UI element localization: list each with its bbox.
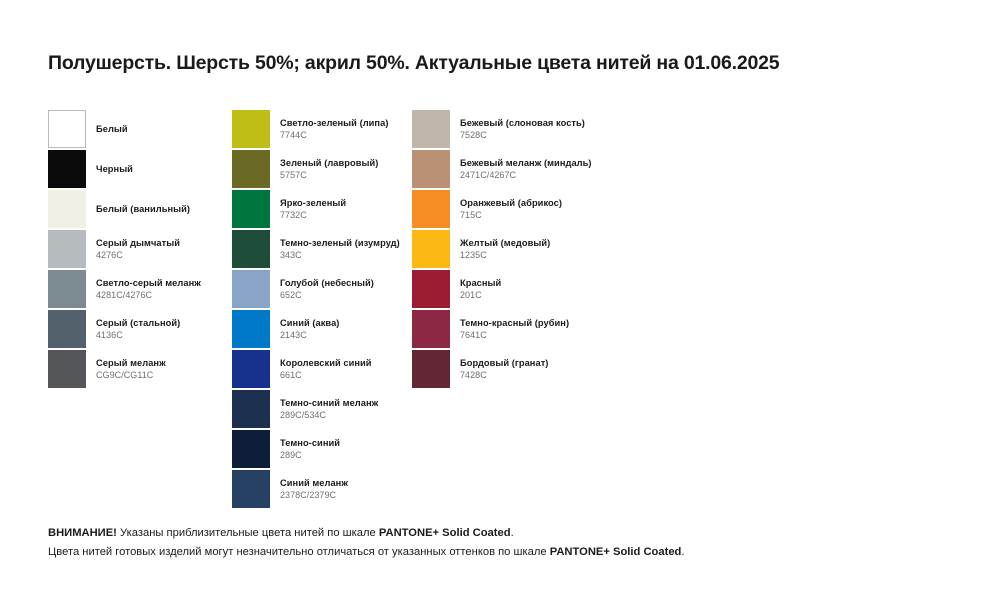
color-name: Бежевый меланж (миндаль) — [460, 157, 592, 169]
color-swatch — [232, 310, 270, 348]
color-pantone-code: 2378C/2379C — [280, 489, 348, 501]
color-labels: Желтый (медовый)1235C — [460, 230, 550, 268]
color-name: Темно-синий меланж — [280, 397, 378, 409]
color-swatch — [232, 390, 270, 428]
color-swatch — [48, 270, 86, 308]
color-swatch — [412, 270, 450, 308]
color-labels: Бежевый меланж (миндаль)2471C/4267C — [460, 150, 592, 188]
color-name: Серый дымчатый — [96, 237, 180, 249]
color-labels: Темно-синий меланж289C/534C — [280, 390, 378, 428]
color-labels: Королевский синий661C — [280, 350, 372, 388]
color-labels: Темно-зеленый (изумруд)343C — [280, 230, 400, 268]
color-pantone-code: 1235C — [460, 249, 550, 261]
color-labels: Белый — [96, 110, 128, 148]
color-pantone-code: 289C — [280, 449, 340, 461]
color-labels: Серый дымчатый4276C — [96, 230, 180, 268]
color-labels: Оранжевый (абрикос)715C — [460, 190, 562, 228]
color-name: Желтый (медовый) — [460, 237, 550, 249]
color-pantone-code: 5757C — [280, 169, 378, 181]
color-name: Синий (аква) — [280, 317, 339, 329]
footer-line-1-text: Указаны приблизительные цвета нитей по ш… — [117, 527, 379, 539]
color-swatch — [412, 350, 450, 388]
color-swatch — [48, 150, 86, 188]
color-pantone-code: 7641C — [460, 329, 569, 341]
color-labels: Голубой (небесный)652C — [280, 270, 374, 308]
color-labels: Белый (ванильный) — [96, 190, 190, 228]
color-labels: Синий (аква)2143C — [280, 310, 339, 348]
color-swatch — [232, 470, 270, 508]
footer-note: ВНИМАНИЕ! Указаны приблизительные цвета … — [48, 524, 948, 561]
footer-line-2-text: Цвета нитей готовых изделий могут незнач… — [48, 546, 550, 558]
color-name: Красный — [460, 277, 501, 289]
color-labels: Ярко-зеленый7732C — [280, 190, 346, 228]
color-name: Оранжевый (абрикос) — [460, 197, 562, 209]
color-swatch — [412, 190, 450, 228]
color-swatch — [48, 230, 86, 268]
color-labels: Бордовый (гранат)7428C — [460, 350, 548, 388]
color-pantone-code: 661C — [280, 369, 372, 381]
color-pantone-code: 201C — [460, 289, 501, 301]
page-title: Полушерсть. Шерсть 50%; акрил 50%. Актуа… — [48, 52, 779, 75]
color-swatch — [232, 190, 270, 228]
color-labels: Темно-синий289C — [280, 430, 340, 468]
color-labels: Красный201C — [460, 270, 501, 308]
color-labels: Бежевый (слоновая кость)7528C — [460, 110, 585, 148]
color-pantone-code: 2471C/4267C — [460, 169, 592, 181]
color-labels: Светло-зеленый (липа)7744C — [280, 110, 388, 148]
color-name: Серый (стальной) — [96, 317, 180, 329]
color-name: Темно-синий — [280, 437, 340, 449]
color-swatch — [48, 350, 86, 388]
footer-attention-label: ВНИМАНИЕ! — [48, 527, 117, 539]
color-name: Бордовый (гранат) — [460, 357, 548, 369]
color-swatch — [48, 310, 86, 348]
color-name: Зеленый (лавровый) — [280, 157, 378, 169]
footer-brand-1: PANTONE+ Solid Coated — [379, 527, 511, 539]
color-name: Темно-зеленый (изумруд) — [280, 237, 400, 249]
color-name: Светло-зеленый (липа) — [280, 117, 388, 129]
color-labels: Темно-красный (рубин)7641C — [460, 310, 569, 348]
color-pantone-code: 7528C — [460, 129, 585, 141]
footer-line-2: Цвета нитей готовых изделий могут незнач… — [48, 543, 948, 562]
color-pantone-code: 7744C — [280, 129, 388, 141]
color-name: Серый меланж — [96, 357, 166, 369]
footer-line-1-end: . — [511, 527, 514, 539]
color-pantone-code: 715C — [460, 209, 562, 221]
color-swatch — [48, 190, 86, 228]
color-name: Бежевый (слоновая кость) — [460, 117, 585, 129]
color-labels: Серый меланжCG9C/CG11C — [96, 350, 166, 388]
color-pantone-code: CG9C/CG11C — [96, 369, 166, 381]
color-swatch — [232, 350, 270, 388]
color-name: Белый (ванильный) — [96, 203, 190, 215]
color-labels: Светло-серый меланж4281C/4276C — [96, 270, 201, 308]
color-swatch — [412, 110, 450, 148]
color-pantone-code: 4276C — [96, 249, 180, 261]
color-swatch — [412, 310, 450, 348]
color-labels: Черный — [96, 150, 133, 188]
color-pantone-code: 7428C — [460, 369, 548, 381]
color-name: Синий меланж — [280, 477, 348, 489]
color-pantone-code: 289C/534C — [280, 409, 378, 421]
footer-brand-2: PANTONE+ Solid Coated — [550, 546, 682, 558]
color-labels: Синий меланж2378C/2379C — [280, 470, 348, 508]
color-swatch — [412, 230, 450, 268]
color-swatch — [412, 150, 450, 188]
footer-line-2-end: . — [681, 546, 684, 558]
color-name: Королевский синий — [280, 357, 372, 369]
color-name: Ярко-зеленый — [280, 197, 346, 209]
color-name: Черный — [96, 163, 133, 175]
color-pantone-code: 2143C — [280, 329, 339, 341]
color-swatch — [232, 150, 270, 188]
color-pantone-code: 652C — [280, 289, 374, 301]
footer-line-1: ВНИМАНИЕ! Указаны приблизительные цвета … — [48, 524, 948, 543]
color-name: Голубой (небесный) — [280, 277, 374, 289]
color-swatch — [232, 110, 270, 148]
color-labels: Серый (стальной)4136C — [96, 310, 180, 348]
color-swatch — [232, 230, 270, 268]
color-pantone-code: 4281C/4276C — [96, 289, 201, 301]
color-name: Светло-серый меланж — [96, 277, 201, 289]
color-swatch — [232, 430, 270, 468]
color-pantone-code: 4136C — [96, 329, 180, 341]
color-pantone-code: 7732C — [280, 209, 346, 221]
color-swatch — [232, 270, 270, 308]
color-pantone-code: 343C — [280, 249, 400, 261]
color-name: Белый — [96, 123, 128, 135]
color-swatch — [48, 110, 86, 148]
color-name: Темно-красный (рубин) — [460, 317, 569, 329]
color-labels: Зеленый (лавровый)5757C — [280, 150, 378, 188]
